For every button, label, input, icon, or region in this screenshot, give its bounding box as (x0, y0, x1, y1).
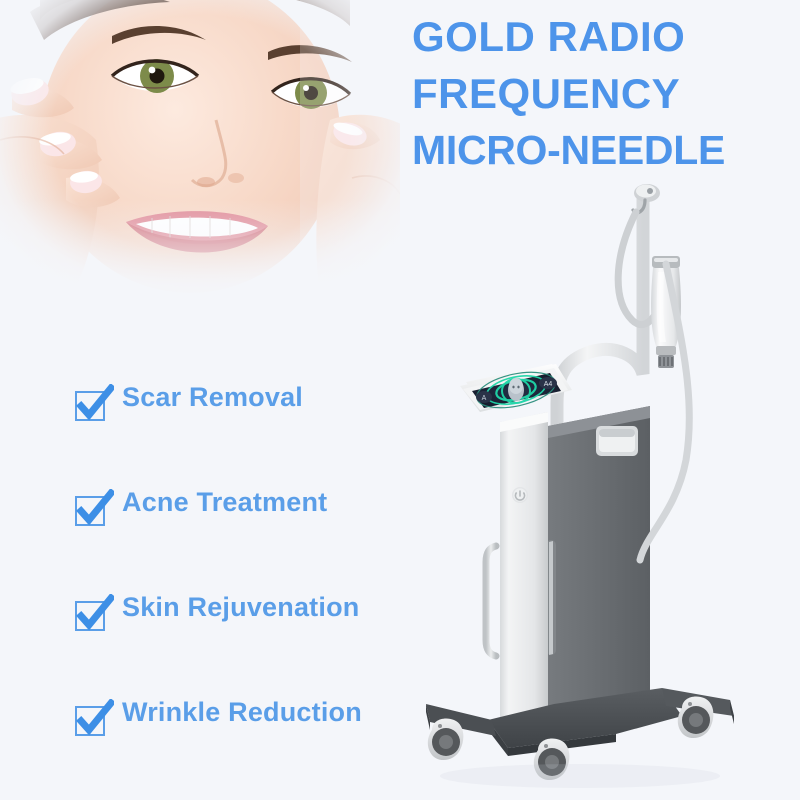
headline-line-2: FREQUENCY (412, 65, 797, 122)
front-column (486, 412, 548, 738)
screen-right-icon: A4 (539, 377, 557, 389)
feature-item-scar-removal: Scar Removal (74, 380, 434, 485)
svg-text:A4: A4 (544, 381, 553, 388)
power-icon (512, 487, 528, 503)
feature-item-skin-rejuvenation: Skin Rejuvenation (74, 590, 434, 695)
headline: GOLD RADIO FREQUENCY MICRO-NEEDLE (412, 8, 797, 179)
caster-left (428, 718, 464, 760)
checkbox-checked-icon (74, 703, 108, 737)
handpiece-cradle (596, 426, 638, 456)
screen-face-graphic (508, 378, 524, 401)
svg-text:A: A (482, 395, 487, 402)
feature-label: Scar Removal (122, 382, 303, 413)
checkbox-checked-icon (74, 388, 108, 422)
screen-left-icon: A (476, 391, 492, 403)
feature-item-acne-treatment: Acne Treatment (74, 485, 434, 590)
feature-item-wrinkle-reduction: Wrinkle Reduction (74, 695, 434, 800)
poster-canvas: GOLD RADIO FREQUENCY MICRO-NEEDLE Scar R… (0, 0, 800, 800)
headline-line-1: GOLD RADIO (412, 8, 797, 65)
feature-label: Skin Rejuvenation (122, 592, 359, 623)
checkbox-checked-icon (74, 598, 108, 632)
hero-photo (0, 0, 400, 320)
product-machine-image: A A4 (400, 160, 800, 800)
checkbox-checked-icon (74, 493, 108, 527)
feature-list: Scar Removal Acne Treatment Skin Rejuven… (74, 380, 434, 800)
column-handle (486, 546, 496, 656)
feature-label: Acne Treatment (122, 487, 327, 518)
feature-label: Wrinkle Reduction (122, 697, 362, 728)
machine-body (538, 406, 650, 722)
